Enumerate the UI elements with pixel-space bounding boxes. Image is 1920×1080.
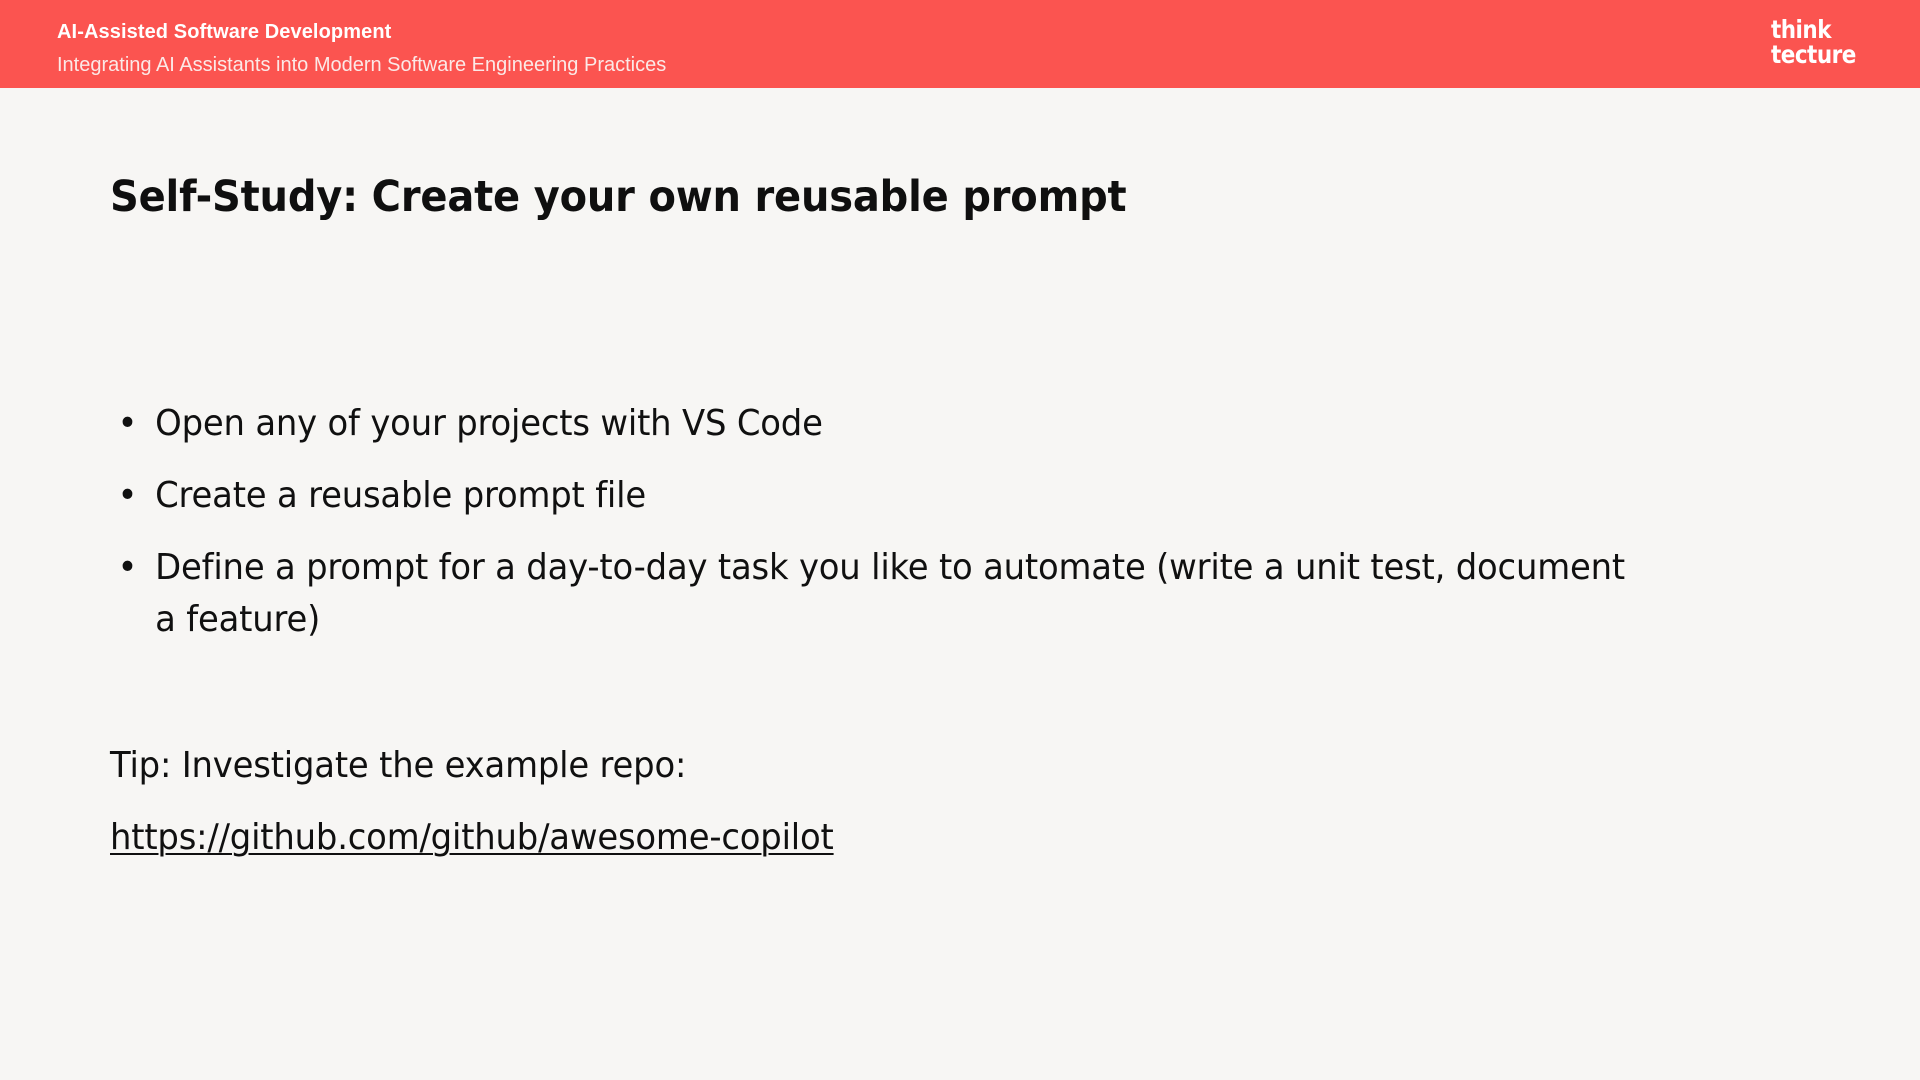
header-text-block: AI-Assisted Software Development Integra… xyxy=(57,20,666,78)
list-item-text: Define a prompt for a day-to-day task yo… xyxy=(155,547,1625,640)
bullet-point-icon: • xyxy=(118,470,138,522)
slide-bullet-list: • Open any of your projects with VS Code… xyxy=(110,398,1750,646)
list-item: • Create a reusable prompt file xyxy=(110,470,1652,522)
example-repo-link[interactable]: https://github.com/github/awesome-copilo… xyxy=(110,812,834,864)
presentation-slide: AI-Assisted Software Development Integra… xyxy=(0,0,1920,1080)
slide-title: Self-Study: Create your own reusable pro… xyxy=(110,172,1126,222)
deck-title: AI-Assisted Software Development xyxy=(57,20,666,44)
bullet-point-icon: • xyxy=(118,398,138,450)
list-item-text: Open any of your projects with VS Code xyxy=(155,403,823,444)
tip-block: Tip: Investigate the example repo: https… xyxy=(110,740,1610,864)
thinktecture-logo: think tecture xyxy=(1771,17,1856,67)
logo-line-tecture: tecture xyxy=(1771,42,1856,67)
list-item: • Define a prompt for a day-to-day task … xyxy=(110,542,1652,646)
slide-header-bar: AI-Assisted Software Development Integra… xyxy=(0,0,1920,88)
bullet-point-icon: • xyxy=(118,542,138,594)
list-item-text: Create a reusable prompt file xyxy=(155,475,646,516)
tip-text: Tip: Investigate the example repo: xyxy=(110,740,1520,792)
list-item: • Open any of your projects with VS Code xyxy=(110,398,1652,450)
deck-subtitle: Integrating AI Assistants into Modern So… xyxy=(57,52,666,78)
logo-line-think: think xyxy=(1771,17,1856,42)
